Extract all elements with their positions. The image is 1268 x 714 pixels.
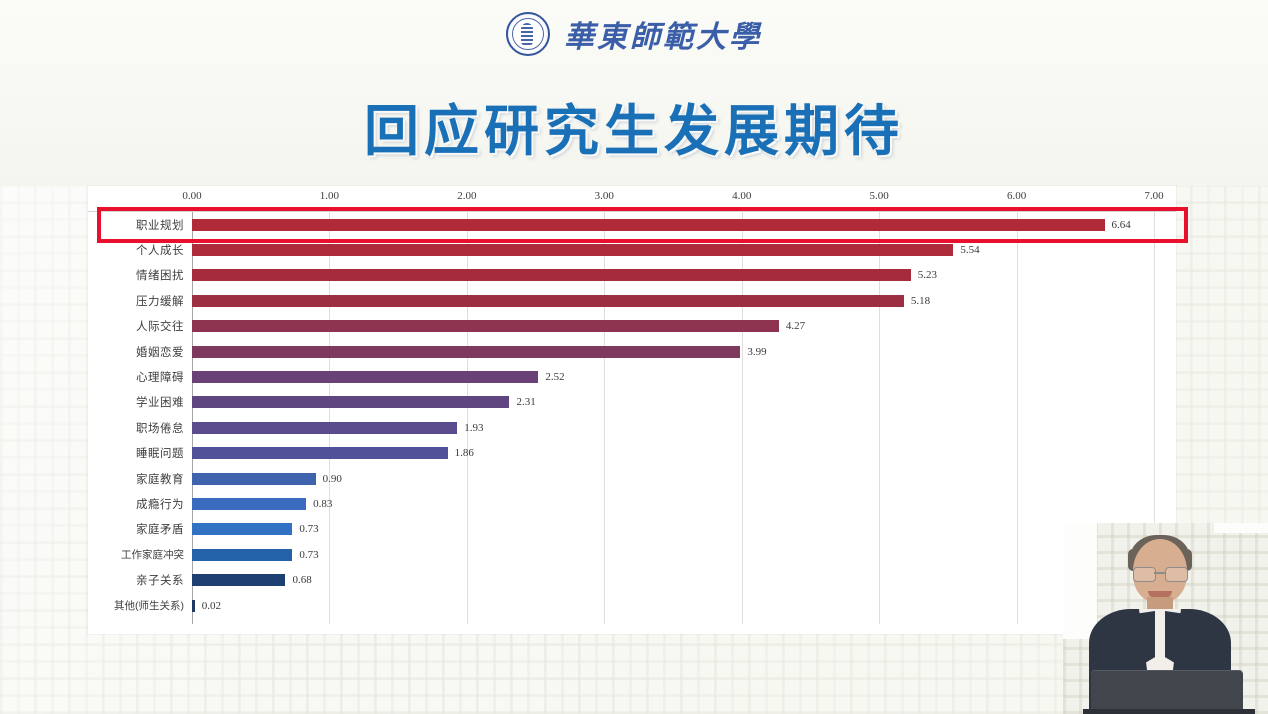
bar <box>192 473 316 485</box>
bar-value-label: 2.31 <box>516 396 535 408</box>
bar-value-label: 4.27 <box>786 320 805 332</box>
x-axis-tick-label: 1.00 <box>320 190 339 202</box>
organization-logo: 華東師範大學 <box>0 10 1268 58</box>
category-label: 家庭矛盾 <box>88 521 184 537</box>
bar-container: 0.83 <box>192 491 1166 516</box>
bar-container: 2.52 <box>192 364 1166 389</box>
presenter-backdrop-panel-left <box>1063 523 1097 639</box>
x-axis-tick-label: 3.00 <box>595 190 614 202</box>
category-label: 工作家庭冲突 <box>88 547 184 562</box>
bar <box>192 549 292 561</box>
bar <box>192 523 292 535</box>
bar-value-label: 1.93 <box>464 422 483 434</box>
category-label: 婚姻恋爱 <box>88 344 184 360</box>
chart-row: 婚姻恋爱3.99 <box>88 339 1176 364</box>
category-label: 压力缓解 <box>88 293 184 309</box>
bar <box>192 447 448 459</box>
x-axis-tick-label: 2.00 <box>457 190 476 202</box>
chart-row: 家庭矛盾0.73 <box>88 517 1176 542</box>
bar-value-label: 2.52 <box>545 371 564 383</box>
glasses-bridge <box>1154 572 1165 574</box>
bar-container: 5.18 <box>192 288 1166 313</box>
bar-container: 0.68 <box>192 567 1166 592</box>
glasses-icon-right <box>1165 567 1188 582</box>
category-label: 情绪困扰 <box>88 267 184 283</box>
category-label: 职场倦怠 <box>88 420 184 436</box>
glasses-icon-left <box>1133 567 1156 582</box>
bar <box>192 244 953 256</box>
chart-row: 压力缓解5.18 <box>88 288 1176 313</box>
plot-area: 0.001.002.003.004.005.006.007.00 职业规划6.6… <box>88 186 1176 634</box>
bar-container: 4.27 <box>192 314 1166 339</box>
bar <box>192 320 779 332</box>
category-label: 学业困难 <box>88 394 184 410</box>
chart-row: 家庭教育0.90 <box>88 466 1176 491</box>
bar-value-label: 6.64 <box>1112 219 1131 231</box>
bar-value-label: 0.68 <box>292 574 311 586</box>
chart-row: 睡眠问题1.86 <box>88 441 1176 466</box>
chart-row: 工作家庭冲突0.73 <box>88 542 1176 567</box>
category-label: 成瘾行为 <box>88 496 184 512</box>
bar-value-label: 0.73 <box>299 549 318 561</box>
bar-value-label: 1.86 <box>455 447 474 459</box>
chart-row: 情绪困扰5.23 <box>88 263 1176 288</box>
x-axis-tick-labels: 0.001.002.003.004.005.006.007.00 <box>88 186 1176 212</box>
chart-row: 成瘾行为0.83 <box>88 491 1176 516</box>
bar-value-label: 5.54 <box>960 244 979 256</box>
slide-root: 華東師範大學 回应研究生发展期待 0.001.002.003.004.005.0… <box>0 0 1268 714</box>
x-axis-tick-label: 7.00 <box>1144 190 1163 202</box>
bar-container: 1.86 <box>192 441 1166 466</box>
x-axis-tick-label: 6.00 <box>1007 190 1026 202</box>
bar-value-label: 0.90 <box>323 473 342 485</box>
bar-container: 5.23 <box>192 263 1166 288</box>
bar-value-label: 0.02 <box>202 600 221 612</box>
chart-row: 人际交往4.27 <box>88 314 1176 339</box>
category-label: 家庭教育 <box>88 471 184 487</box>
bar-container: 0.02 <box>192 593 1166 618</box>
category-label: 个人成长 <box>88 242 184 258</box>
bar <box>192 396 509 408</box>
category-label: 睡眠问题 <box>88 445 184 461</box>
bar <box>192 346 740 358</box>
bar-value-label: 3.99 <box>747 346 766 358</box>
bar-container: 2.31 <box>192 390 1166 415</box>
bar-container: 3.99 <box>192 339 1166 364</box>
bar-value-label: 5.23 <box>918 269 937 281</box>
laptop-base <box>1083 709 1255 714</box>
chart-row: 学业困难2.31 <box>88 390 1176 415</box>
bar-container: 0.90 <box>192 466 1166 491</box>
bar-value-label: 0.83 <box>313 498 332 510</box>
bar <box>192 269 911 281</box>
bar <box>192 574 285 586</box>
organization-name: 華東師範大學 <box>564 12 762 56</box>
presenter-video-overlay[interactable] <box>1063 523 1268 714</box>
chart-row: 其他(师生关系)0.02 <box>88 593 1176 618</box>
bar-container: 5.54 <box>192 237 1166 262</box>
bar-container: 0.73 <box>192 517 1166 542</box>
bar <box>192 371 538 383</box>
bar <box>192 219 1105 231</box>
chart-row: 心理障碍2.52 <box>88 364 1176 389</box>
chart-row: 职场倦怠1.93 <box>88 415 1176 440</box>
bar-value-label: 5.18 <box>911 295 930 307</box>
laptop-icon <box>1091 670 1243 714</box>
bar <box>192 600 195 612</box>
x-axis-tick-label: 5.00 <box>870 190 889 202</box>
bar <box>192 498 306 510</box>
slide-title: 回应研究生发展期待 <box>0 86 1268 166</box>
category-label: 亲子关系 <box>88 572 184 588</box>
bar-container: 6.64 <box>192 212 1166 237</box>
bar-rows: 职业规划6.64个人成长5.54情绪困扰5.23压力缓解5.18人际交往4.27… <box>88 212 1176 624</box>
x-axis-tick-label: 0.00 <box>182 190 201 202</box>
category-label: 职业规划 <box>88 217 184 233</box>
bar-container: 0.73 <box>192 542 1166 567</box>
chart-row: 亲子关系0.68 <box>88 567 1176 592</box>
category-label: 人际交往 <box>88 318 184 334</box>
bar-value-label: 0.73 <box>299 523 318 535</box>
chart-panel: 0.001.002.003.004.005.006.007.00 职业规划6.6… <box>88 186 1176 634</box>
chart-row: 职业规划6.64 <box>88 212 1176 237</box>
university-seal-icon <box>506 12 550 56</box>
bar <box>192 422 457 434</box>
x-axis-tick-label: 4.00 <box>732 190 751 202</box>
chart-row: 个人成长5.54 <box>88 237 1176 262</box>
bar <box>192 295 904 307</box>
bar-container: 1.93 <box>192 415 1166 440</box>
category-label: 其他(师生关系) <box>88 598 184 613</box>
presenter-backdrop-panel-top <box>1214 523 1268 533</box>
category-label: 心理障碍 <box>88 369 184 385</box>
